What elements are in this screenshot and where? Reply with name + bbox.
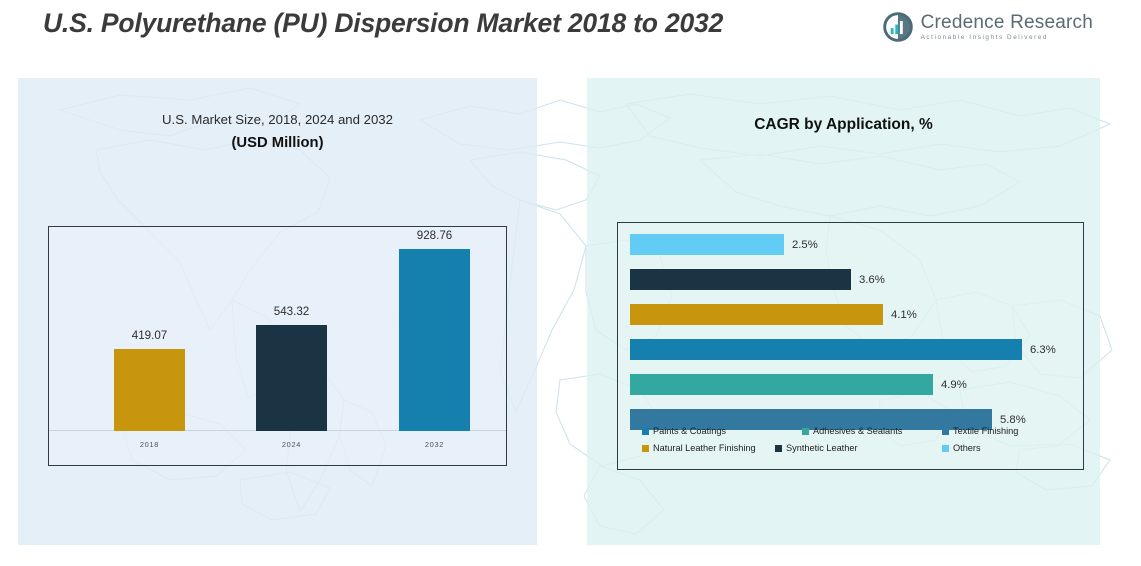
legend-item-others[interactable]: Others [942, 444, 981, 453]
legend-item-natural-leather-finishing[interactable]: Natural Leather Finishing [642, 444, 775, 453]
left-subtitle-line2: (USD Million) [18, 135, 537, 151]
legend-label-synthetic-leather: Synthetic Leather [786, 444, 858, 453]
bar-value-paints-coatings: 6.3% [1030, 344, 1056, 356]
bar-fill-adhesives-sealants[interactable] [630, 374, 933, 395]
market-size-column-chart: 419.07 2018 543.32 2024 928.76 2032 [48, 226, 507, 466]
header: U.S. Polyurethane (PU) Dispersion Market… [0, 0, 1141, 78]
bar-fill-natural-leather-finishing[interactable] [630, 304, 883, 325]
bar-fill-paints-coatings[interactable] [630, 339, 1022, 360]
brand-logo-text: Credence Research Actionable Insights De… [921, 13, 1093, 41]
right-panel: CAGR by Application, % 2.5% 3.6% 4.1% [587, 78, 1100, 545]
infographic-root: U.S. Polyurethane (PU) Dispersion Market… [0, 0, 1141, 566]
bar-value-others: 2.5% [792, 239, 818, 251]
bar-value-natural-leather-finishing: 4.1% [891, 309, 917, 321]
bar-row-natural-leather-finishing[interactable]: 4.1% [630, 304, 917, 325]
legend-row-2: Natural Leather Finishing Synthetic Leat… [642, 444, 1073, 453]
column-2018[interactable]: 419.07 2018 [114, 349, 185, 431]
legend-label-others: Others [953, 444, 981, 453]
legend-row-1: Paints & Coatings Adhesives & Sealants T… [642, 427, 1073, 436]
legend-swatch-adhesives-sealants [802, 428, 809, 435]
brand-tagline: Actionable Insights Delivered [921, 35, 1093, 41]
page-title: U.S. Polyurethane (PU) Dispersion Market… [43, 6, 903, 41]
cagr-legend: Paints & Coatings Adhesives & Sealants T… [642, 427, 1073, 461]
column-category-2018: 2018 [140, 440, 159, 449]
column-bar-2032[interactable] [399, 249, 470, 431]
legend-item-paints-coatings[interactable]: Paints & Coatings [642, 427, 802, 436]
left-subtitle-line1: U.S. Market Size, 2018, 2024 and 2032 [18, 112, 537, 127]
cagr-bar-chart: 2.5% 3.6% 4.1% 6.3% 4.9% [617, 222, 1084, 470]
column-category-2024: 2024 [282, 440, 301, 449]
column-category-2032: 2032 [425, 440, 444, 449]
right-panel-title: CAGR by Application, % [587, 116, 1100, 134]
legend-label-textile-finishing: Textile Finishing [953, 427, 1018, 436]
chart-circle-icon [883, 12, 913, 42]
right-panel-heading: CAGR by Application, % [587, 116, 1100, 134]
legend-label-adhesives-sealants: Adhesives & Sealants [813, 427, 902, 436]
column-2032[interactable]: 928.76 2032 [399, 249, 470, 431]
legend-swatch-textile-finishing [942, 428, 949, 435]
bar-value-textile-finishing: 5.8% [1000, 414, 1026, 426]
column-value-2032: 928.76 [417, 229, 452, 242]
bar-row-paints-coatings[interactable]: 6.3% [630, 339, 1056, 360]
left-panel: U.S. Market Size, 2018, 2024 and 2032 (U… [18, 78, 537, 545]
legend-swatch-paints-coatings [642, 428, 649, 435]
column-bar-2018[interactable] [114, 349, 185, 431]
column-value-2018: 419.07 [132, 329, 167, 342]
bar-row-synthetic-leather[interactable]: 3.6% [630, 269, 885, 290]
left-panel-heading: U.S. Market Size, 2018, 2024 and 2032 (U… [18, 112, 537, 151]
legend-item-adhesives-sealants[interactable]: Adhesives & Sealants [802, 427, 942, 436]
legend-swatch-natural-leather-finishing [642, 445, 649, 452]
cagr-bar-rows: 2.5% 3.6% 4.1% 6.3% 4.9% [630, 234, 1073, 411]
legend-label-paints-coatings: Paints & Coatings [653, 427, 726, 436]
bar-value-adhesives-sealants: 4.9% [941, 379, 967, 391]
bar-row-others[interactable]: 2.5% [630, 234, 818, 255]
legend-label-natural-leather-finishing: Natural Leather Finishing [653, 444, 756, 453]
legend-item-synthetic-leather[interactable]: Synthetic Leather [775, 444, 942, 453]
brand-name: Credence Research [921, 13, 1093, 32]
legend-item-textile-finishing[interactable]: Textile Finishing [942, 427, 1018, 436]
column-value-2024: 543.32 [274, 305, 309, 318]
legend-swatch-others [942, 445, 949, 452]
bar-value-synthetic-leather: 3.6% [859, 274, 885, 286]
column-2024[interactable]: 543.32 2024 [256, 325, 327, 431]
column-bar-2024[interactable] [256, 325, 327, 431]
legend-swatch-synthetic-leather [775, 445, 782, 452]
bar-fill-others[interactable] [630, 234, 784, 255]
brand-logo: Credence Research Actionable Insights De… [883, 12, 1093, 42]
bar-fill-synthetic-leather[interactable] [630, 269, 851, 290]
bar-row-adhesives-sealants[interactable]: 4.9% [630, 374, 967, 395]
